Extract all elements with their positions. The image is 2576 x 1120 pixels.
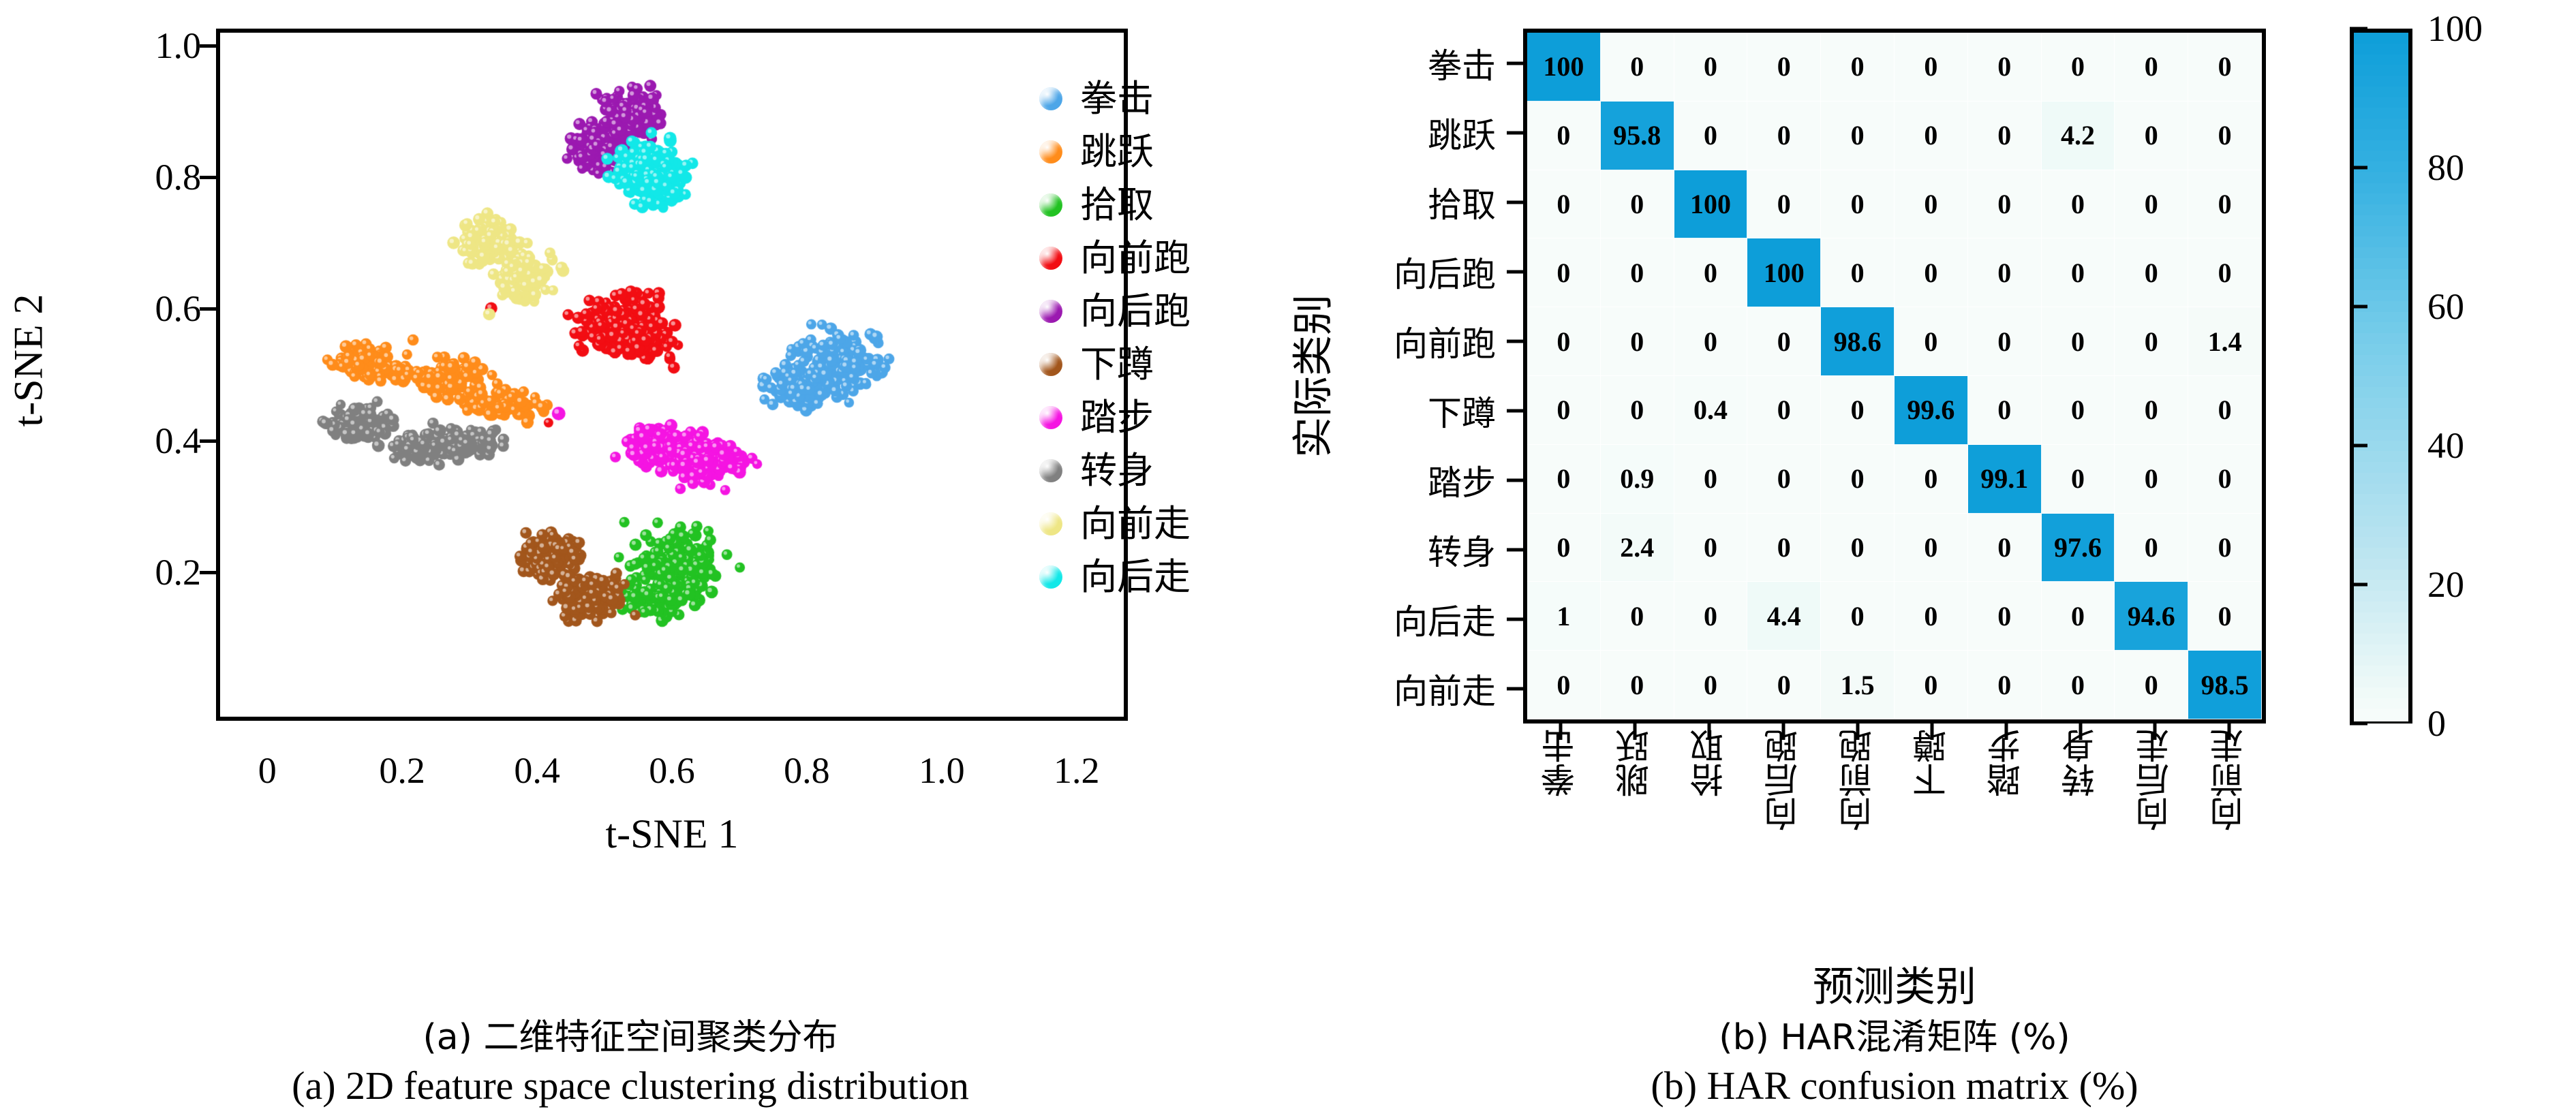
cm-cell-r4-c6: 0 — [1968, 307, 2042, 376]
legend-item-0[interactable]: 拳击 — [1039, 72, 1264, 125]
legend-item-6[interactable]: 踏步 — [1039, 391, 1264, 444]
legend-label: 向后走 — [1080, 559, 1191, 595]
tsne-y-tick-mark — [200, 44, 216, 48]
cm-cell-r9-c4: 1.5 — [1821, 651, 1895, 719]
legend-item-1[interactable]: 跳跃 — [1039, 125, 1264, 178]
cm-cell-r0-c2: 0 — [1674, 33, 1748, 102]
tsne-y-tick-0.8: 0.8 — [155, 156, 202, 198]
cm-cell-r9-c7: 0 — [2042, 651, 2115, 719]
cm-cell-r7-c3: 0 — [1747, 514, 1821, 582]
colorbar-tick-label-100: 100 — [2427, 7, 2483, 50]
legend-item-5[interactable]: 下蹲 — [1039, 338, 1264, 391]
colorbar-tick-label-0: 0 — [2427, 702, 2446, 745]
cm-cell-r9-c3: 0 — [1747, 651, 1821, 719]
cm-col-tick-mark — [1707, 724, 1711, 740]
cm-cell-r3-c9: 0 — [2188, 238, 2262, 307]
cm-cell-r7-c9: 0 — [2188, 514, 2262, 582]
cm-cell-r8-c0: 1 — [1527, 582, 1601, 651]
tsne-x-tick-0.8: 0.8 — [784, 749, 830, 792]
cm-cell-r4-c7: 0 — [2042, 307, 2115, 376]
cm-cell-r2-c6: 0 — [1968, 170, 2042, 239]
legend-marker-icon — [1039, 140, 1062, 164]
cm-cell-r5-c9: 0 — [2188, 376, 2262, 445]
legend-label: 向前走 — [1080, 505, 1191, 542]
legend-item-9[interactable]: 向后走 — [1039, 550, 1264, 604]
cm-row-tick-mark — [1507, 201, 1523, 204]
cm-row-label-0: 拳击 — [1428, 39, 1496, 88]
cm-cell-r2-c3: 0 — [1747, 170, 1821, 239]
colorbar-tick-label-80: 80 — [2427, 146, 2464, 189]
legend-item-4[interactable]: 向后跑 — [1039, 285, 1264, 338]
cm-cell-r2-c8: 0 — [2115, 170, 2188, 239]
cm-row-tick-mark — [1507, 62, 1523, 65]
cm-cell-r7-c4: 0 — [1821, 514, 1895, 582]
cm-row-label-2: 拾取 — [1428, 178, 1496, 227]
cm-cell-r5-c4: 0 — [1821, 376, 1895, 445]
cm-cell-r4-c5: 0 — [1895, 307, 1968, 376]
cm-row-label-8: 向后走 — [1394, 595, 1496, 644]
cm-cell-r8-c7: 0 — [2042, 582, 2115, 651]
cm-cell-r0-c6: 0 — [1968, 33, 2042, 102]
legend-marker-icon — [1039, 512, 1062, 535]
tsne-y-tick-mark — [200, 439, 216, 443]
cm-cell-r5-c2: 0.4 — [1674, 376, 1748, 445]
panel-a-caption-cn: (a) 二维特征空间聚类分布 — [423, 1008, 838, 1059]
tsne-y-tick-0.2: 0.2 — [155, 551, 202, 593]
tsne-y-tick-labels: 0.20.40.60.81.0 — [0, 0, 216, 749]
cm-row-tick-mark — [1507, 687, 1523, 691]
cm-cell-r0-c9: 0 — [2188, 33, 2262, 102]
cm-cell-r8-c2: 0 — [1674, 582, 1748, 651]
cm-cell-r4-c0: 0 — [1527, 307, 1601, 376]
cm-row-tick-mark — [1507, 618, 1523, 621]
cm-cell-r8-c5: 0 — [1895, 582, 1968, 651]
cm-cell-r9-c8: 0 — [2115, 651, 2188, 719]
cm-cell-r6-c7: 0 — [2042, 445, 2115, 514]
cm-cell-r3-c2: 0 — [1674, 238, 1748, 307]
cm-cell-r7-c0: 0 — [1527, 514, 1601, 582]
cm-cell-r9-c9: 98.5 — [2188, 651, 2262, 719]
cm-col-labels: 拳击跳跃拾取向后跑向前跑下蹲踏步转身向后走向前走 — [1523, 724, 2266, 948]
colorbar-tick-mark — [2350, 722, 2367, 726]
legend-marker-icon — [1039, 565, 1062, 589]
tsne-y-tick-mark — [200, 571, 216, 574]
cm-col-tick-mark — [2079, 724, 2082, 740]
cm-cell-r1-c1: 95.8 — [1601, 102, 1674, 170]
cm-cell-r6-c2: 0 — [1674, 445, 1748, 514]
cm-cell-r3-c8: 0 — [2115, 238, 2188, 307]
cm-cell-r1-c4: 0 — [1821, 102, 1895, 170]
legend-item-3[interactable]: 向前跑 — [1039, 232, 1264, 285]
cm-cell-r4-c3: 0 — [1747, 307, 1821, 376]
cm-cell-r0-c1: 0 — [1601, 33, 1674, 102]
cm-cell-r0-c4: 0 — [1821, 33, 1895, 102]
cm-row-label-4: 向前跑 — [1394, 317, 1496, 366]
cm-cell-r3-c4: 0 — [1821, 238, 1895, 307]
cm-row-tick-mark — [1507, 548, 1523, 552]
cm-col-label-9: 向前走 — [2205, 729, 2254, 831]
cm-cell-r2-c2: 100 — [1674, 170, 1748, 239]
cm-row-label-5: 下蹲 — [1428, 386, 1496, 435]
colorbar-tick-label-60: 60 — [2427, 285, 2464, 328]
cm-cell-r0-c3: 0 — [1747, 33, 1821, 102]
cm-cell-r2-c1: 0 — [1601, 170, 1674, 239]
legend-item-7[interactable]: 转身 — [1039, 444, 1264, 497]
cm-cell-r7-c7: 97.6 — [2042, 514, 2115, 582]
cm-grid: 100000000000095.8000004.2000010000000000… — [1527, 33, 2262, 719]
cm-cell-r4-c8: 0 — [2115, 307, 2188, 376]
cm-col-label-8: 向后走 — [2130, 729, 2179, 831]
cm-col-tick-mark — [1856, 724, 1859, 740]
tsne-y-tick-0.6: 0.6 — [155, 287, 202, 330]
cm-cell-r6-c5: 0 — [1895, 445, 1968, 514]
cm-cell-r7-c6: 0 — [1968, 514, 2042, 582]
colorbar-tick-mark — [2350, 166, 2367, 170]
cm-row-label-6: 踏步 — [1428, 456, 1496, 505]
cm-cell-r5-c5: 99.6 — [1895, 376, 1968, 445]
legend-marker-icon — [1039, 406, 1062, 429]
cm-cell-r8-c6: 0 — [1968, 582, 2042, 651]
cm-cell-r5-c7: 0 — [2042, 376, 2115, 445]
cm-row-tick-mark — [1507, 409, 1523, 413]
tsne-y-tick-mark — [200, 176, 216, 179]
cm-row-label-3: 向后跑 — [1394, 247, 1496, 296]
tsne-x-tick-0.6: 0.6 — [649, 749, 695, 792]
legend-marker-icon — [1039, 193, 1062, 217]
cm-cell-r1-c5: 0 — [1895, 102, 1968, 170]
cm-cell-r9-c0: 0 — [1527, 651, 1601, 719]
cm-cell-r9-c5: 0 — [1895, 651, 1968, 719]
cm-cell-r2-c5: 0 — [1895, 170, 1968, 239]
cm-cell-r3-c1: 0 — [1601, 238, 1674, 307]
tsne-x-tick-labels: 00.20.40.60.81.01.2 — [0, 721, 1261, 803]
cm-cell-r3-c6: 0 — [1968, 238, 2042, 307]
cm-cell-r3-c5: 0 — [1895, 238, 1968, 307]
colorbar-tick-mark — [2350, 305, 2367, 309]
legend-label: 拳击 — [1080, 80, 1154, 117]
cm-cell-r7-c2: 0 — [1674, 514, 1748, 582]
cm-cell-r2-c9: 0 — [2188, 170, 2262, 239]
cm-cell-r2-c0: 0 — [1527, 170, 1601, 239]
cm-row-label-9: 向前走 — [1394, 664, 1496, 713]
cm-cell-r6-c6: 99.1 — [1968, 445, 2042, 514]
cm-cell-r1-c8: 0 — [2115, 102, 2188, 170]
tsne-y-tick-0.4: 0.4 — [155, 420, 202, 462]
cm-col-tick-mark — [1559, 724, 1562, 740]
panel-b-confusion-matrix: 实际类别 预测类别 拳击跳跃拾取向后跑向前跑下蹲踏步转身向后走向前走 拳击跳跃拾… — [1261, 0, 2576, 1120]
cm-cell-r1-c6: 0 — [1968, 102, 2042, 170]
panel-b-caption-en: (b) HAR confusion matrix (%) — [1651, 1063, 2138, 1108]
cm-row-label-7: 转身 — [1428, 525, 1496, 574]
cm-cell-r6-c9: 0 — [2188, 445, 2262, 514]
cm-cell-r1-c0: 0 — [1527, 102, 1601, 170]
cm-cell-r3-c3: 100 — [1747, 238, 1821, 307]
cm-row-tick-mark — [1507, 131, 1523, 135]
cm-cell-r1-c3: 0 — [1747, 102, 1821, 170]
cm-cell-r6-c8: 0 — [2115, 445, 2188, 514]
cm-cell-r5-c8: 0 — [2115, 376, 2188, 445]
cm-x-axis-title: 预测类别 — [1813, 954, 1976, 1013]
cm-col-label-3: 向后跑 — [1759, 729, 1808, 831]
cm-colorbar-gradient — [2354, 33, 2408, 719]
cm-cell-r6-c3: 0 — [1747, 445, 1821, 514]
legend-label: 踏步 — [1080, 399, 1154, 436]
cm-cell-r4-c9: 1.4 — [2188, 307, 2262, 376]
cm-row-label-1: 跳跃 — [1428, 108, 1496, 157]
cm-cell-r0-c7: 0 — [2042, 33, 2115, 102]
cm-col-tick-mark — [1633, 724, 1636, 740]
legend-label: 向前跑 — [1080, 240, 1191, 277]
cm-cell-r5-c0: 0 — [1527, 376, 1601, 445]
legend-label: 下蹲 — [1080, 346, 1154, 383]
legend-marker-icon — [1039, 247, 1062, 270]
cm-cell-r1-c9: 0 — [2188, 102, 2262, 170]
cm-row-tick-mark — [1507, 340, 1523, 343]
cm-row-tick-mark — [1507, 479, 1523, 482]
cm-cell-r6-c1: 0.9 — [1601, 445, 1674, 514]
cm-colorbar — [2350, 29, 2412, 724]
cm-cell-r7-c1: 2.4 — [1601, 514, 1674, 582]
cm-cell-r3-c7: 0 — [2042, 238, 2115, 307]
tsne-x-tick-1.2: 1.2 — [1054, 749, 1100, 792]
colorbar-tick-mark — [2350, 27, 2367, 31]
cm-cell-r4-c2: 0 — [1674, 307, 1748, 376]
colorbar-band — [2354, 709, 2408, 721]
cm-cell-r8-c1: 0 — [1601, 582, 1674, 651]
tsne-x-tick-1.0: 1.0 — [919, 749, 965, 792]
cm-col-tick-mark — [1781, 724, 1785, 740]
cm-cell-r1-c2: 0 — [1674, 102, 1748, 170]
tsne-x-axis-title: t-SNE 1 — [606, 811, 739, 858]
cm-cell-r6-c4: 0 — [1821, 445, 1895, 514]
cm-col-tick-mark — [2153, 724, 2156, 740]
tsne-x-tick-0.2: 0.2 — [379, 749, 425, 792]
cm-cell-r9-c6: 0 — [1968, 651, 2042, 719]
cm-col-tick-mark — [2227, 724, 2230, 740]
legend-item-8[interactable]: 向前走 — [1039, 497, 1264, 550]
cm-cell-r0-c0: 100 — [1527, 33, 1601, 102]
legend-item-2[interactable]: 拾取 — [1039, 178, 1264, 232]
cm-cell-r8-c3: 4.4 — [1747, 582, 1821, 651]
cm-cell-r7-c8: 0 — [2115, 514, 2188, 582]
cm-cell-r5-c3: 0 — [1747, 376, 1821, 445]
cm-cell-r5-c6: 0 — [1968, 376, 2042, 445]
cm-col-label-4: 向前跑 — [1833, 729, 1882, 831]
cm-col-tick-mark — [2004, 724, 2008, 740]
legend-marker-icon — [1039, 300, 1062, 323]
tsne-y-tick-1.0: 1.0 — [155, 25, 202, 67]
tsne-x-tick-0.4: 0.4 — [514, 749, 560, 792]
cm-cell-r6-c0: 0 — [1527, 445, 1601, 514]
cm-cell-r0-c5: 0 — [1895, 33, 1968, 102]
colorbar-tick-mark — [2350, 583, 2367, 587]
colorbar-tick-label-40: 40 — [2427, 424, 2464, 467]
tsne-x-tick-0: 0 — [258, 749, 277, 792]
cm-cell-r1-c7: 4.2 — [2042, 102, 2115, 170]
cm-cell-r5-c1: 0 — [1601, 376, 1674, 445]
legend-marker-icon — [1039, 87, 1062, 110]
cm-cell-r8-c8: 94.6 — [2115, 582, 2188, 651]
panel-a-tsne-scatter: t-SNE 2 t-SNE 1 0.20.40.60.81.0 00.20.40… — [0, 0, 1261, 1120]
cm-matrix-frame: 100000000000095.8000004.2000010000000000… — [1523, 29, 2266, 724]
cm-cell-r3-c0: 0 — [1527, 238, 1601, 307]
legend-label: 转身 — [1080, 452, 1154, 489]
tsne-scatter-canvas — [220, 33, 1124, 717]
tsne-y-tick-mark — [200, 307, 216, 311]
cm-row-labels: 拳击跳跃拾取向后跑向前跑下蹲踏步转身向后走向前走 — [1261, 29, 1523, 724]
colorbar-tick-label-20: 20 — [2427, 563, 2464, 606]
legend-label: 拾取 — [1080, 187, 1154, 223]
cm-cell-r2-c7: 0 — [2042, 170, 2115, 239]
legend-marker-icon — [1039, 459, 1062, 482]
figure-root: t-SNE 2 t-SNE 1 0.20.40.60.81.0 00.20.40… — [0, 0, 2576, 1120]
panel-a-caption-en: (a) 2D feature space clustering distribu… — [292, 1063, 969, 1108]
legend-label: 向后跑 — [1080, 293, 1191, 330]
cm-cell-r9-c1: 0 — [1601, 651, 1674, 719]
legend-marker-icon — [1039, 353, 1062, 376]
colorbar-tick-mark — [2350, 444, 2367, 448]
panel-b-caption-cn: (b) HAR混淆矩阵 (%) — [1719, 1008, 2070, 1059]
cm-row-tick-mark — [1507, 270, 1523, 274]
cm-cell-r4-c1: 0 — [1601, 307, 1674, 376]
cm-cell-r0-c8: 0 — [2115, 33, 2188, 102]
cm-cell-r8-c4: 0 — [1821, 582, 1895, 651]
legend-label: 跳跃 — [1080, 134, 1154, 170]
cm-cell-r2-c4: 0 — [1821, 170, 1895, 239]
cm-cell-r4-c4: 98.6 — [1821, 307, 1895, 376]
cm-cell-r7-c5: 0 — [1895, 514, 1968, 582]
cm-cell-r8-c9: 0 — [2188, 582, 2262, 651]
tsne-plot-frame: 拳击跳跃拾取向前跑向后跑下蹲踏步转身向前走向后走 — [216, 29, 1128, 721]
cm-col-tick-mark — [1930, 724, 1933, 740]
tsne-legend: 拳击跳跃拾取向前跑向后跑下蹲踏步转身向前走向后走 — [1039, 72, 1264, 604]
cm-cell-r9-c2: 0 — [1674, 651, 1748, 719]
